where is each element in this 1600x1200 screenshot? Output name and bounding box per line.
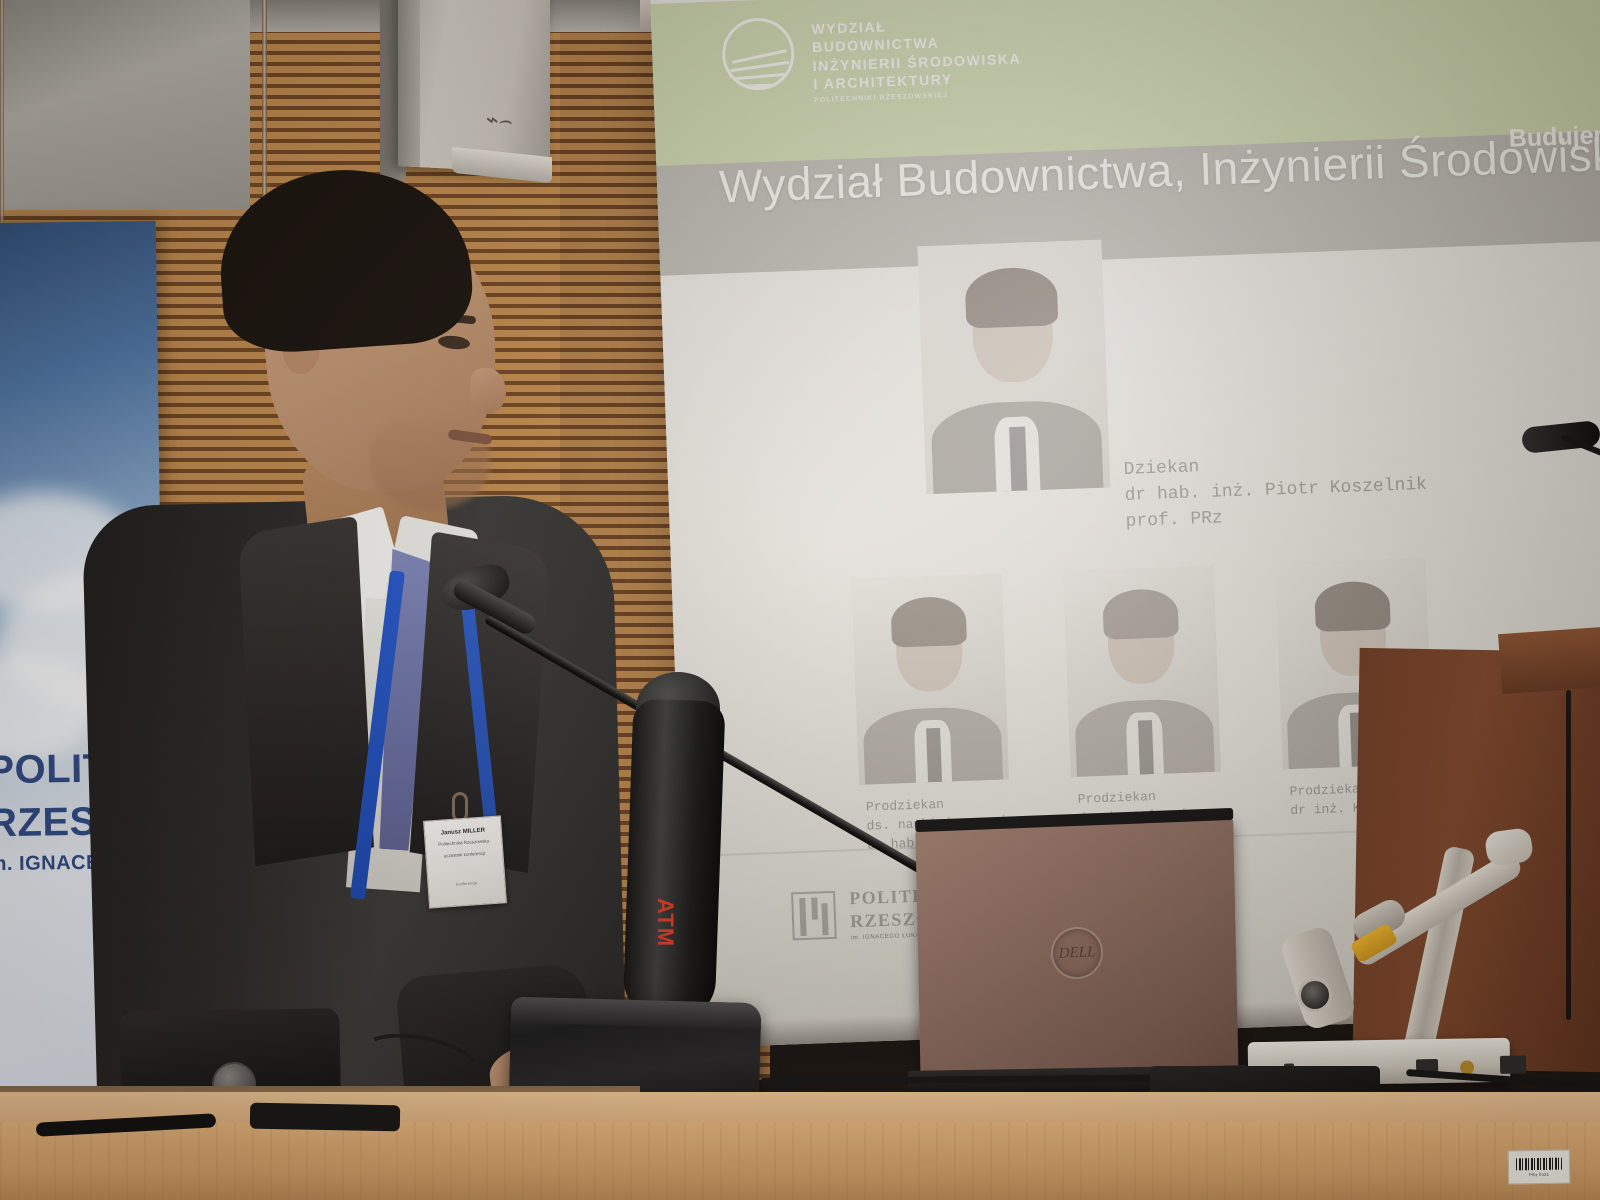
inventory-code: PRz 0421 (1529, 1171, 1549, 1176)
microphone-brand-label: ATM (652, 898, 678, 947)
badge-org: Politechnika Rzeszowska (432, 838, 496, 849)
circle-landscape-logo-icon (721, 17, 796, 92)
faculty-logo: WYDZIAŁ BUDOWNICTWA INŻYNIERII ŚRODOWISK… (721, 8, 1023, 108)
microphone-base-top (511, 997, 762, 1030)
lectern-top (1498, 626, 1600, 694)
microphone-stand-column (622, 698, 725, 1021)
portrait-vice-dean-1 (852, 574, 1009, 785)
wall-loudspeaker: ⌁⌢ (398, 0, 550, 174)
caption-vd2-role: Prodziekan (1078, 789, 1157, 807)
badge-name: Janusz MILLER (431, 827, 495, 837)
desk-woodgrain (0, 1122, 1600, 1200)
conference-badge: Janusz MILLER Politechnika Rzeszowska uc… (423, 815, 507, 908)
caption-dean-role: Dziekan (1123, 457, 1199, 480)
laptop-lid[interactable]: DELL (915, 818, 1238, 1088)
lectern (1352, 648, 1600, 1072)
desk-cable-left-2 (250, 1103, 400, 1132)
presenter-lapel-left (238, 516, 374, 866)
caption-dean: Dziekan dr hab. inż. Piotr Koszelnik pro… (1123, 446, 1428, 535)
slide-tagline: Budujemy p (1508, 119, 1600, 153)
wall-seam (0, 0, 4, 230)
lectern-cable (1566, 690, 1571, 1020)
barcode-icon (1516, 1157, 1562, 1170)
camera-lens-icon (1298, 978, 1332, 1012)
caption-dean-suffix: prof. PRz (1125, 509, 1223, 533)
dell-logo-icon: DELL (1050, 926, 1103, 980)
inventory-sticker: PRz 0421 (1508, 1149, 1571, 1184)
caption-vd1-role: Prodziekan (866, 797, 945, 815)
portrait-dean (917, 240, 1110, 495)
pr-logo-mark (791, 891, 837, 941)
desk-front-panel (0, 1122, 1600, 1200)
loudspeaker-brand-icon: ⌁⌢ (484, 107, 536, 136)
doccam-port-video[interactable] (1500, 1055, 1526, 1073)
loudspeaker-grille (398, 0, 420, 167)
presenter-nose (470, 368, 506, 414)
badge-role: uczestnik konferencji (432, 850, 496, 861)
vice-dean-portrait-row (852, 558, 1433, 785)
portrait-vice-dean-2 (1063, 566, 1220, 777)
caption-dean-name: dr hab. inż. Piotr Koszelnik (1124, 475, 1427, 506)
presenter-hair (214, 161, 476, 356)
presentation-photo-scene: ⌁⌢ WYDZIAŁ BUDOWNICTWA INŻYNIERII ŚRODOW… (0, 0, 1600, 1200)
badge-footer: Konferencja (434, 878, 498, 887)
faculty-logo-text: WYDZIAŁ BUDOWNICTWA INŻYNIERII ŚRODOWISK… (811, 8, 1023, 105)
